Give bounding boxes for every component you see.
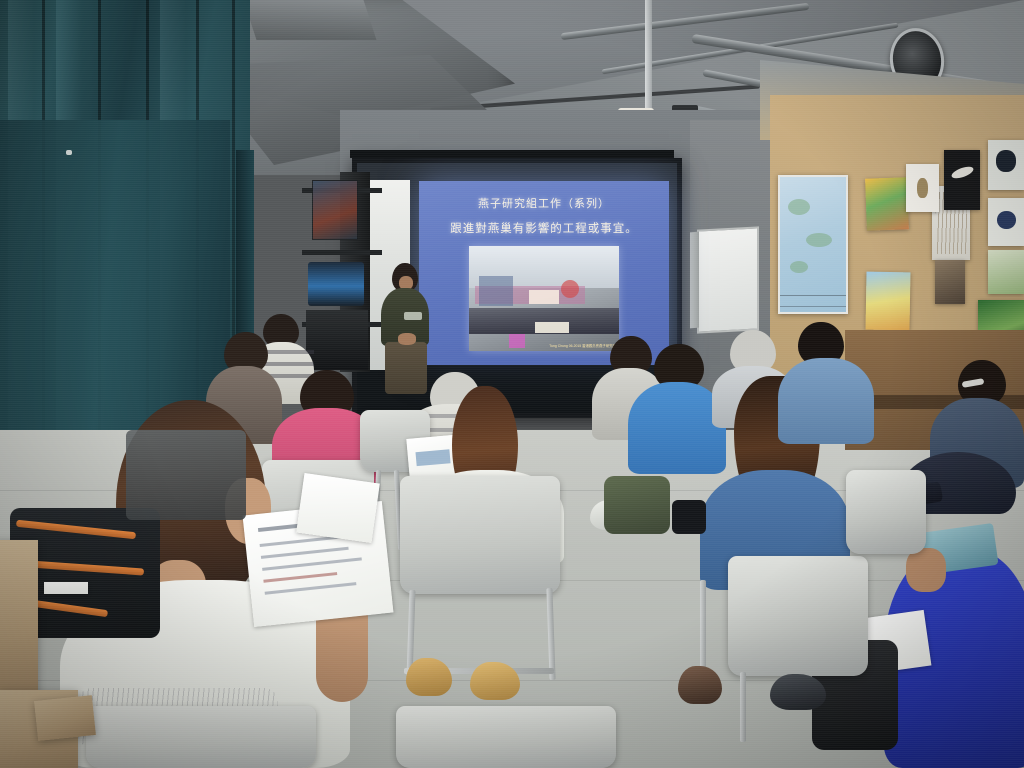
screen-top-bar <box>350 150 674 158</box>
shoe <box>406 658 452 696</box>
shoe <box>470 662 520 700</box>
bird-photo-3 <box>988 140 1024 190</box>
stacking-chair <box>400 476 560 594</box>
chair-leg <box>740 672 746 742</box>
shoe <box>770 674 826 710</box>
presenter-trousers <box>385 342 427 394</box>
dark-jacket-on-chair <box>126 430 246 520</box>
stacking-chair <box>396 706 616 768</box>
bird-photo-5 <box>988 250 1024 294</box>
cardboard-box <box>34 695 96 741</box>
presenter-hands <box>398 333 416 345</box>
stacking-chair <box>728 556 868 676</box>
bird-photo-2 <box>944 150 980 210</box>
projector-mount-pole <box>645 0 652 120</box>
camera <box>672 500 706 534</box>
slide-photo: Tung Chung 06-2015 香港觀鳥會燕子研究組 <box>469 246 619 351</box>
rack-equipment <box>308 262 364 306</box>
child-artwork-2 <box>865 272 910 331</box>
rack-poster <box>312 180 358 240</box>
bird-photo-4 <box>988 198 1024 246</box>
whiteboard <box>697 226 759 333</box>
slide-photo-caption: Tung Chung 06-2015 香港觀鳥會燕子研究組 <box>549 344 616 349</box>
photo-scene: 燕子研究組工作（系列） 跟進對燕巢有影響的工程或事宜。 Tung Chung 0… <box>0 0 1024 768</box>
ceiling-panel <box>244 0 377 40</box>
backpack <box>604 476 670 534</box>
stacking-chair <box>846 470 926 554</box>
shoe <box>678 666 722 704</box>
child-artwork-1 <box>865 177 909 230</box>
slide-title: 燕子研究組工作（系列） <box>419 195 669 211</box>
presenter-logo <box>404 312 422 320</box>
stacking-chair <box>86 706 316 768</box>
wall-map <box>778 175 848 314</box>
cardboard-box <box>0 540 38 700</box>
bird-photo-1 <box>906 164 939 212</box>
attendee-denim-torso <box>778 358 874 444</box>
whiteboard-edge <box>690 232 699 329</box>
slide-subtitle: 跟進對燕巢有影響的工程或事宜。 <box>419 220 669 236</box>
rack-lower-box <box>306 310 368 370</box>
hand <box>906 548 946 592</box>
nest-photo <box>935 260 965 304</box>
handout-paper <box>296 473 380 543</box>
curtain-clip <box>66 150 72 155</box>
